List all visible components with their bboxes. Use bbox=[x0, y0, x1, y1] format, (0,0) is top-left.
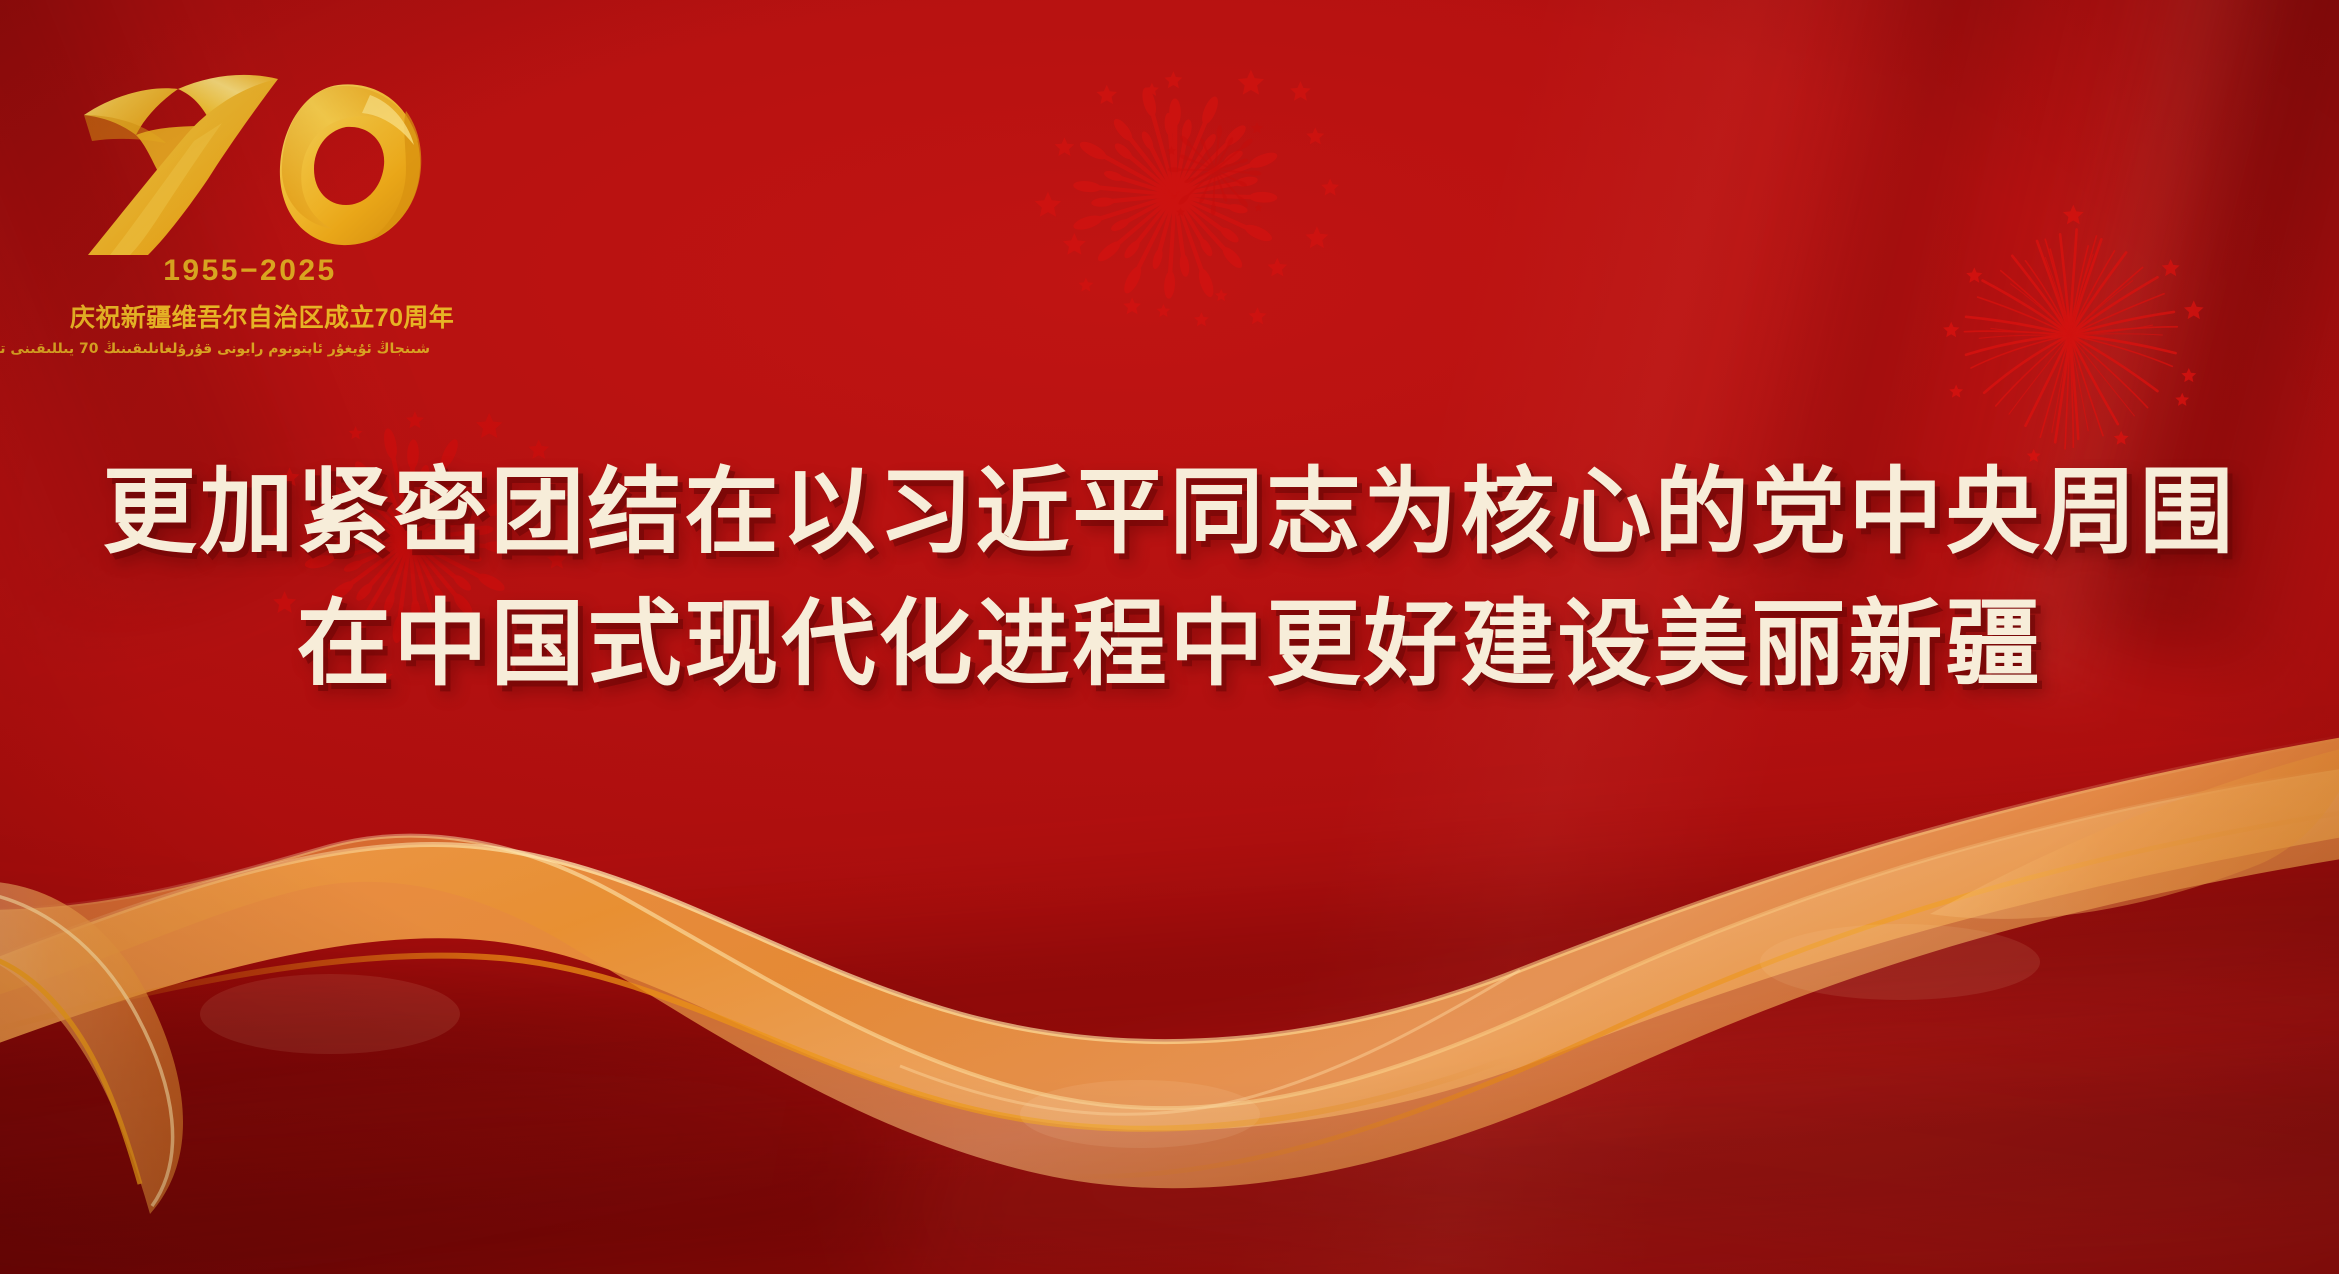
vignette-overlay bbox=[0, 0, 2339, 1274]
poster-canvas: 1955−2025 庆祝新疆维吾尔自治区成立70周年 شىنجاڭ ئۇيغۇر… bbox=[0, 0, 2339, 1274]
